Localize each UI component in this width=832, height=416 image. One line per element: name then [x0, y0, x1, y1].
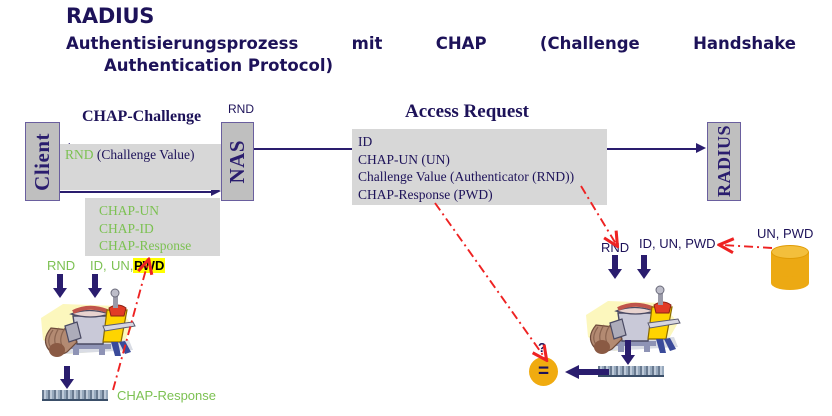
arrow-client-hash-output-down — [60, 366, 74, 390]
label-client-input-rnd: RND — [47, 258, 75, 273]
database-cylinder-icon — [771, 245, 809, 290]
line-client-to-nas — [60, 191, 212, 193]
node-client-label: Client — [30, 133, 55, 191]
challenge-rest-text: (Challenge Value) — [94, 147, 195, 162]
node-radius[interactable]: RADIUS — [707, 122, 741, 201]
label-database-contents: UN, PWD — [757, 226, 813, 241]
page-subtitle: Authentisierungsprozess mit CHAP (Challe… — [66, 33, 796, 77]
compare-question-mark: ? — [538, 340, 546, 355]
slide-canvas: RADIUS Authentisierungsprozess mit CHAP … — [0, 0, 832, 416]
access-chapun-line: CHAP-UN (UN) — [358, 151, 607, 169]
chap-un-line: CHAP-UN — [99, 202, 220, 220]
panel-challenge-value: RND (Challenge Value) — [60, 144, 222, 190]
panel-access-request-fields: ID CHAP-UN (UN) Challenge Value (Authent… — [352, 129, 607, 205]
access-challenge-line: Challenge Value (Authenticator (RND)) — [358, 168, 607, 186]
label-client-input-id: ID, — [90, 258, 107, 273]
hash-function-grinder-client — [33, 288, 141, 366]
label-client-input-pwd: PWD — [133, 258, 165, 273]
panel-chap-response-fields: CHAP-UN CHAP-ID CHAP-Response — [85, 198, 220, 256]
panel-challenge-text: RND (Challenge Value) — [60, 144, 222, 163]
arrow-server-rnd-down — [608, 255, 622, 279]
node-radius-label: RADIUS — [714, 125, 735, 197]
panel-access-request-text: ID CHAP-UN (UN) Challenge Value (Authent… — [352, 129, 607, 203]
line-accessrequest-to-radius — [605, 148, 697, 150]
access-id-line: ID — [358, 133, 607, 151]
caption-chap-challenge: CHAP-Challenge — [82, 108, 201, 126]
label-client-chap-response: CHAP-Response — [117, 388, 216, 403]
caption-access-request: Access Request — [405, 101, 529, 123]
subtitle-line-1: Authentisierungsprozess mit CHAP (Challe… — [66, 33, 796, 55]
node-client[interactable]: Client — [25, 122, 60, 201]
label-server-input-rnd: RND — [601, 240, 629, 255]
compare-equals-symbol: = — [538, 361, 549, 383]
label-server-input-credentials: ID, UN, PWD — [639, 236, 716, 251]
node-nas-label: NAS — [225, 140, 250, 184]
client-hash-output-bar — [42, 390, 108, 401]
chap-id-line: CHAP-ID — [99, 220, 220, 238]
panel-chap-response-text: CHAP-UN CHAP-ID CHAP-Response — [85, 198, 220, 255]
arrowhead-to-radius — [696, 143, 706, 153]
arrow-server-hash-output-down — [621, 340, 635, 366]
arrow-hash-to-compare — [565, 365, 609, 379]
compare-equals-badge[interactable]: = — [529, 357, 558, 386]
access-chapresponse-line: CHAP-Response (PWD) — [358, 186, 607, 204]
challenge-rnd-token: RND — [65, 147, 94, 162]
red-arrow-pwd-to-compare — [435, 203, 545, 358]
arrow-server-creds-down — [637, 255, 651, 279]
chap-response-line: CHAP-Response — [99, 237, 220, 255]
subtitle-line-2: Authentication Protocol) — [104, 55, 796, 77]
line-nas-to-accessrequest — [254, 148, 354, 150]
pwd-highlight: PWD — [133, 258, 165, 273]
label-rnd-at-nas: RND — [228, 102, 254, 116]
page-title: RADIUS — [66, 4, 154, 28]
node-nas[interactable]: NAS — [221, 122, 254, 201]
label-client-input-un: UN, — [111, 258, 133, 273]
red-arrow-db-to-credentials — [722, 245, 772, 248]
